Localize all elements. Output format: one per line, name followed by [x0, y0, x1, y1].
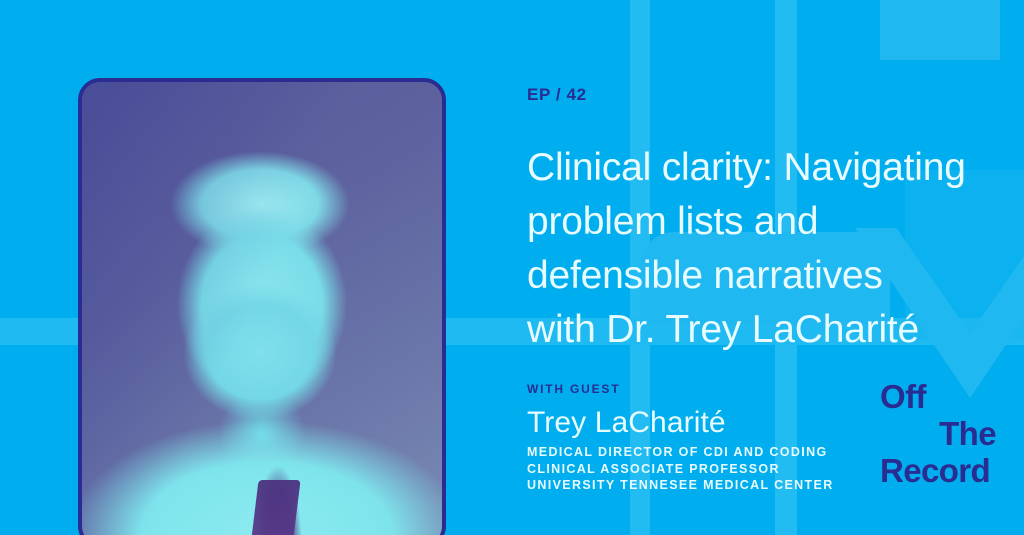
- off-the-record-logo: Off The Record: [880, 378, 1010, 489]
- guest-photo-overlay: [82, 82, 442, 535]
- guest-credential-line: MEDICAL DIRECTOR OF CDI AND CODING: [527, 444, 834, 461]
- logo-line-record: Record: [880, 452, 1010, 489]
- guest-credential-line: CLINICAL ASSOCIATE PROFESSOR: [527, 461, 834, 478]
- episode-title: Clinical clarity: Navigating problem lis…: [527, 141, 1024, 357]
- episode-number-label: EP / 42: [527, 85, 587, 105]
- with-guest-label: WITH GUEST: [527, 382, 620, 396]
- logo-line-off: Off: [880, 378, 1010, 415]
- guest-credentials: MEDICAL DIRECTOR OF CDI AND CODING CLINI…: [527, 444, 834, 494]
- episode-title-line: Clinical clarity: Navigating: [527, 141, 1024, 195]
- episode-title-line: problem lists and: [527, 195, 1024, 249]
- guest-name: Trey LaCharité: [527, 406, 726, 440]
- guest-credential-line: UNIVERSITY TENNESEE MEDICAL CENTER: [527, 477, 834, 494]
- podcast-episode-graphic: EP / 42 Clinical clarity: Navigating pro…: [0, 0, 1024, 535]
- logo-line-the: The: [880, 415, 1010, 452]
- episode-title-line: with Dr. Trey LaCharité: [527, 303, 1024, 357]
- episode-title-line: defensible narratives: [527, 249, 1024, 303]
- guest-photo: [78, 78, 446, 535]
